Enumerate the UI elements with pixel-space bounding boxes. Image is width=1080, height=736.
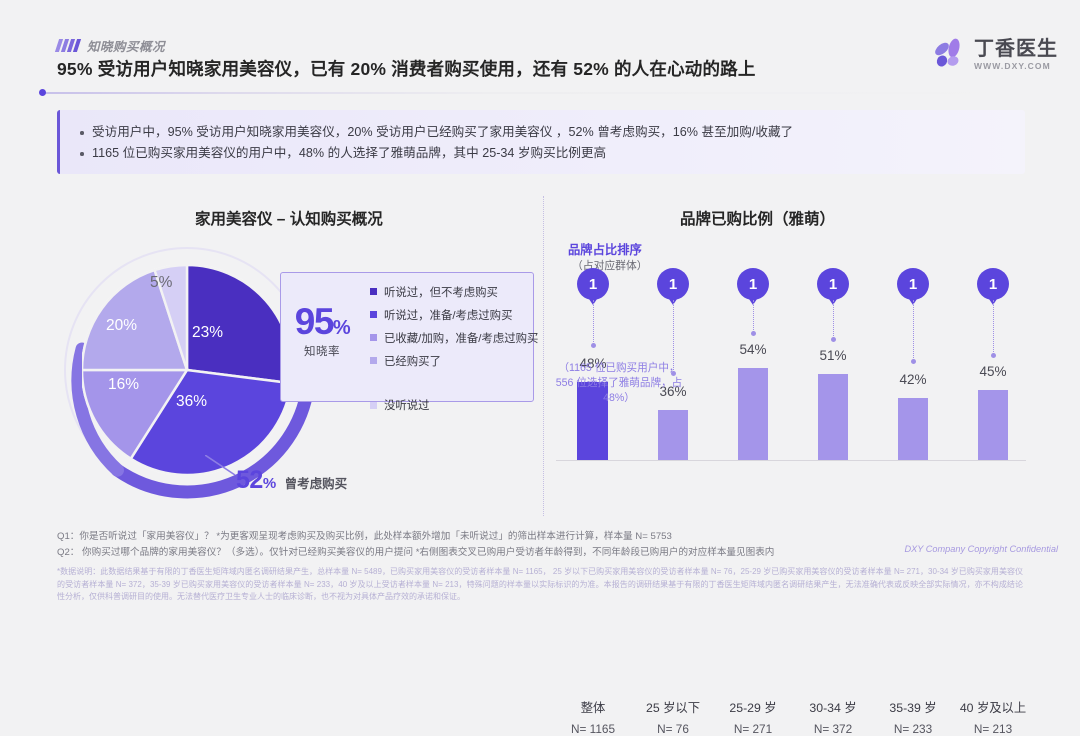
bar (898, 398, 928, 460)
bar-value-label: 54% (716, 342, 790, 357)
balloon-string (753, 300, 754, 332)
pie-slices (82, 265, 292, 475)
bar-value-label: 42% (876, 372, 950, 387)
pie-slice-label: 36% (176, 393, 207, 411)
logo-name: 丁香医生 (974, 39, 1058, 59)
bar-sample-size: N= 1165 (556, 722, 630, 736)
kicker-label: 知晓购买概况 (87, 36, 165, 55)
brand-logo: 丁香医生 WWW.DXY.COM (931, 38, 1058, 72)
pie-slice-label: 20% (106, 317, 137, 335)
awareness-stat: 95% 知晓率 (281, 303, 363, 359)
legend-item: 已收藏/加购，准备/考虑过购买 (370, 326, 540, 349)
legend-swatch-icon (370, 334, 377, 341)
summary-callout: 受访用户中，95% 受访用户知晓家用美容仪，20% 受访用户已经购买了家用美容仪… (57, 110, 1025, 174)
balloon-string (913, 300, 914, 360)
bar (818, 374, 848, 460)
consideration-value: 52% (236, 466, 276, 495)
arc-leader-line (205, 455, 239, 477)
bar-category-label: 25-29 岁 (716, 698, 790, 716)
legend-label: 听说过，准备/考虑过购买 (384, 307, 512, 323)
pie-slice-label: 16% (108, 376, 139, 394)
legend-item: 没听说过 (370, 397, 430, 413)
fine-print: *数据说明：此数据结果基于有限的丁香医生矩阵域内匿名调研结果产生，总样本量 N=… (57, 566, 1023, 604)
bar-group: 1 54% 25-29 岁 N= 271 (716, 232, 790, 500)
rank-balloon: 1 (897, 268, 929, 300)
header-rule-dot (39, 89, 46, 96)
legend-label: 已经购买了 (384, 353, 441, 369)
list-item: 受访用户中，95% 受访用户知晓家用美容仪，20% 受访用户已经购买了家用美容仪… (80, 122, 1025, 143)
legend-swatch-icon (370, 311, 377, 318)
balloon-string (833, 300, 834, 338)
legend-swatch-icon (370, 402, 377, 409)
pie-legend-list: 听说过，但不考虑购买 听说过，准备/考虑过购买 已收藏/加购，准备/考虑过购买 … (370, 280, 540, 372)
confidential-label: DXY Company Copyright Confidential (904, 544, 1058, 554)
page-title: 95% 受访用户知晓家用美容仪，已有 20% 消费者购买使用，还有 52% 的人… (57, 56, 756, 81)
bar-value-label: 51% (796, 348, 870, 363)
bar-category-label: 40 岁及以上 (956, 698, 1030, 716)
bar-sample-size: N= 271 (716, 722, 790, 736)
panel-divider (543, 196, 544, 516)
pie-slice-label: 23% (192, 324, 223, 342)
rank-balloon: 1 (577, 268, 609, 300)
bar-annotation: （1165 位已购买用户中，556 位选择了雅萌品牌，占 48%） (555, 361, 683, 406)
bar (738, 368, 768, 460)
accent-bars-icon (57, 39, 79, 52)
legend-item: 听说过，准备/考虑过购买 (370, 303, 540, 326)
legend-item: 听说过，但不考虑购买 (370, 280, 540, 303)
section-kicker: 知晓购买概况 (57, 36, 165, 55)
left-chart-title: 家用美容仪 – 认知购买概况 (195, 207, 383, 229)
legend-label: 没听说过 (384, 397, 430, 413)
slide-header: 知晓购买概况 95% 受访用户知晓家用美容仪，已有 20% 消费者购买使用，还有… (0, 0, 1080, 96)
awareness-caption: 知晓率 (281, 343, 363, 359)
bar-sample-size: N= 76 (636, 722, 710, 736)
question-notes: Q1：你是否听说过「家用美容仪」？ *为更客观呈现考虑购买及购买比例，此处样本额… (57, 529, 774, 560)
question-note-q2: Q2： 你购买过哪个品牌的家用美容仪？（多选）。仅针对已经购买美容仪的用户提问 … (57, 545, 774, 561)
bar-category-label: 35-39 岁 (876, 698, 950, 716)
bar-sample-size: N= 213 (956, 722, 1030, 736)
clover-logo-icon (931, 38, 965, 72)
right-chart-title: 品牌已购比例（雅萌） (680, 207, 835, 229)
legend-item: 已经购买了 (370, 349, 540, 372)
bar-category-label: 25 岁以下 (636, 698, 710, 716)
awareness-value: 95% (281, 303, 363, 340)
logo-url: WWW.DXY.COM (974, 62, 1058, 71)
logo-text: 丁香医生 WWW.DXY.COM (974, 39, 1058, 71)
bar-sample-size: N= 372 (796, 722, 870, 736)
list-item: 1165 位已购买家用美容仪的用户中，48% 的人选择了雅萌品牌，其中 25-3… (80, 143, 1025, 164)
rank-balloon: 1 (657, 268, 689, 300)
balloon-string (593, 300, 594, 344)
rank-balloon: 1 (737, 268, 769, 300)
pie-chart: 23% 36% 16% 20% 5% (62, 245, 312, 495)
bar-group: 1 45% 40 岁及以上 N= 213 (956, 232, 1030, 500)
consideration-callout: 52% 曾考虑购买 (236, 466, 347, 495)
bar (658, 410, 688, 460)
summary-bullet-list: 受访用户中，95% 受访用户知晓家用美容仪，20% 受访用户已经购买了家用美容仪… (60, 110, 1025, 164)
legend-swatch-icon (370, 288, 377, 295)
bar-category-label: 30-34 岁 (796, 698, 870, 716)
balloon-string (993, 300, 994, 354)
consideration-caption: 曾考虑购买 (285, 473, 348, 492)
legend-label: 已收藏/加购，准备/考虑过购买 (384, 330, 538, 346)
bar-sample-size: N= 233 (876, 722, 950, 736)
rank-balloon: 1 (817, 268, 849, 300)
bar-group: 1 42% 35-39 岁 N= 233 (876, 232, 950, 500)
header-rule (40, 92, 1040, 94)
bar-category-label: 整体 (556, 698, 630, 716)
legend-swatch-icon (370, 357, 377, 364)
pie-slice-label: 5% (150, 274, 172, 292)
legend-label: 听说过，但不考虑购买 (384, 284, 498, 300)
bar (978, 390, 1008, 460)
question-note-q1: Q1：你是否听说过「家用美容仪」？ *为更客观呈现考虑购买及购买比例，此处样本额… (57, 529, 774, 545)
slide-root: 知晓购买概况 95% 受访用户知晓家用美容仪，已有 20% 消费者购买使用，还有… (0, 0, 1080, 608)
rank-balloon: 1 (977, 268, 1009, 300)
bar-group: 1 51% 30-34 岁 N= 372 (796, 232, 870, 500)
bar-value-label: 45% (956, 364, 1030, 379)
